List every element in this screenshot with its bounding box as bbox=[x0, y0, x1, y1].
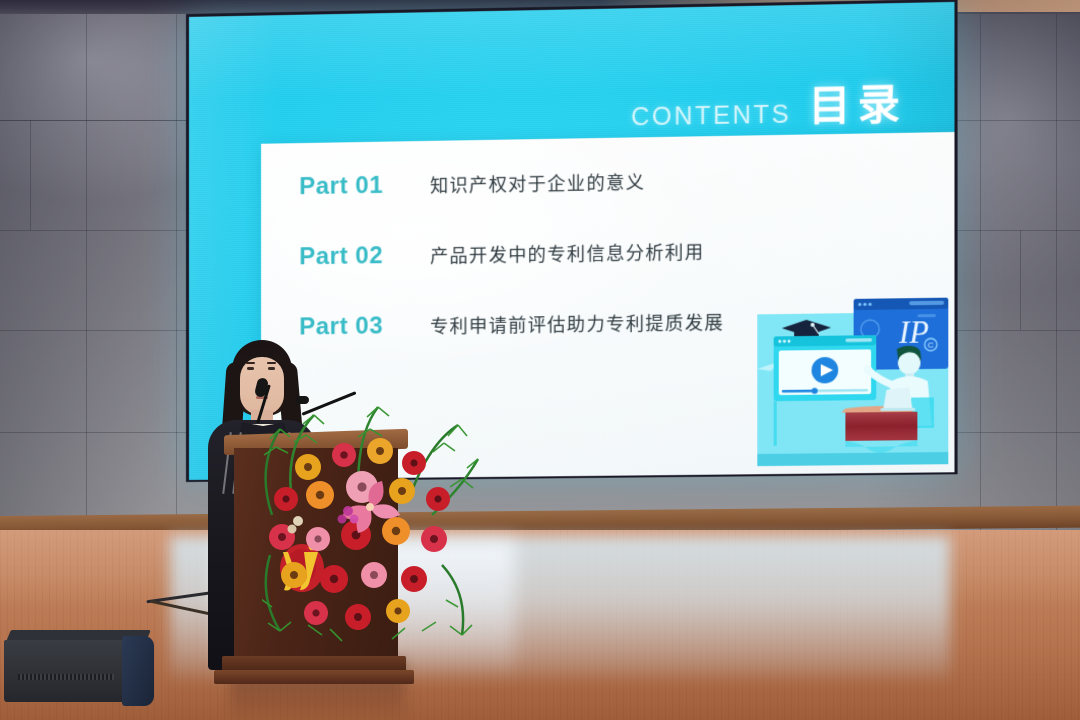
presenter-brow-left bbox=[246, 362, 255, 364]
monitor-side bbox=[122, 636, 154, 706]
stage-monitor-speaker bbox=[4, 630, 154, 708]
presenter-brow-right bbox=[267, 362, 276, 364]
monitor-grille bbox=[18, 674, 114, 680]
monitor-face bbox=[4, 640, 130, 702]
part-number: Part 02 bbox=[299, 241, 430, 271]
part-number: Part 01 bbox=[299, 171, 430, 201]
part-topic: 专利申请前评估助力专利提质发展 bbox=[430, 309, 724, 339]
podium-base-lower bbox=[214, 670, 414, 684]
toc-row[interactable]: Part 01 知识产权对于企业的意义 bbox=[299, 166, 724, 221]
presenter-eye-right bbox=[268, 367, 275, 370]
part-topic: 知识产权对于企业的意义 bbox=[430, 169, 645, 199]
scene-root: CONTENTS 目录 Part 01 知识产权对于企业的意义 Part 02 … bbox=[0, 0, 1080, 720]
contents-english-label: CONTENTS bbox=[631, 102, 791, 130]
toc-row[interactable]: Part 02 产品开发中的专利信息分析利用 bbox=[299, 237, 724, 291]
presenter-eye-left bbox=[247, 367, 254, 370]
slide-header: CONTENTS 目录 bbox=[631, 84, 907, 130]
floor-gloss bbox=[0, 530, 1080, 720]
contents-chinese-label: 目录 bbox=[808, 84, 907, 127]
ip-education-illustration: IP C bbox=[755, 279, 950, 474]
part-topic: 产品开发中的专利信息分析利用 bbox=[430, 238, 704, 268]
floral-bouquet bbox=[262, 395, 482, 645]
table-of-contents: Part 01 知识产权对于企业的意义 Part 02 产品开发中的专利信息分析… bbox=[299, 166, 724, 361]
toc-row[interactable]: Part 03 专利申请前评估助力专利提质发展 bbox=[299, 308, 724, 362]
svg-text:C: C bbox=[928, 341, 934, 350]
part-number: Part 03 bbox=[299, 312, 430, 342]
